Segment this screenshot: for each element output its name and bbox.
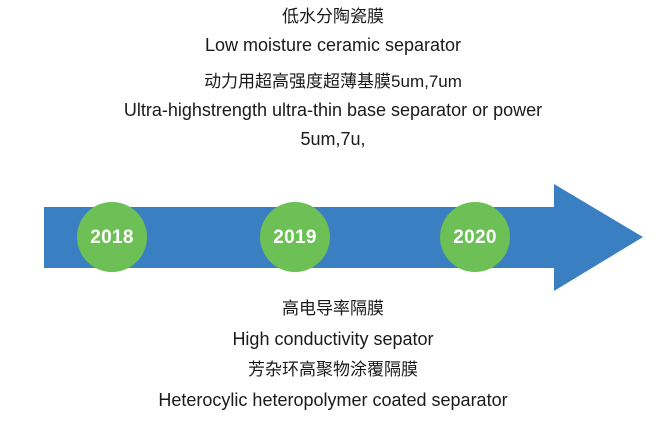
timeline-node-2018-label: 2018 [90, 228, 133, 247]
bottom-text-line-3-cn: 芳杂环高聚物涂覆隔膜 [0, 361, 666, 378]
timeline-node-2020[interactable]: 2020 [440, 202, 510, 272]
timeline-node-2020-label: 2020 [453, 228, 496, 247]
bottom-annotation-block: 高电导率隔膜 High conductivity sepator 芳杂环高聚物涂… [0, 300, 666, 422]
top-text-line-3-cn: 动力用超高强度超薄基膜5um,7um [0, 73, 666, 90]
bottom-text-line-2-en: High conductivity sepator [0, 330, 666, 348]
bottom-text-line-1-cn: 高电导率隔膜 [0, 300, 666, 317]
bottom-text-line-4-en: Heterocylic heteropolymer coated separat… [0, 391, 666, 409]
timeline-node-2018[interactable]: 2018 [77, 202, 147, 272]
timeline: 2018 2019 2020 [0, 175, 666, 300]
top-text-line-1-cn: 低水分陶瓷膜 [0, 8, 666, 25]
timeline-node-2019-label: 2019 [273, 228, 316, 247]
timeline-node-2019[interactable]: 2019 [260, 202, 330, 272]
top-annotation-block: 低水分陶瓷膜 Low moisture ceramic separator 动力… [0, 8, 666, 159]
timeline-diagram: 低水分陶瓷膜 Low moisture ceramic separator 动力… [0, 0, 666, 439]
top-text-line-2-en: Low moisture ceramic separator [0, 36, 666, 54]
top-text-line-5-en: 5um,7u, [0, 130, 666, 148]
top-text-line-4-en: Ultra-highstrength ultra-thin base separ… [0, 101, 666, 119]
